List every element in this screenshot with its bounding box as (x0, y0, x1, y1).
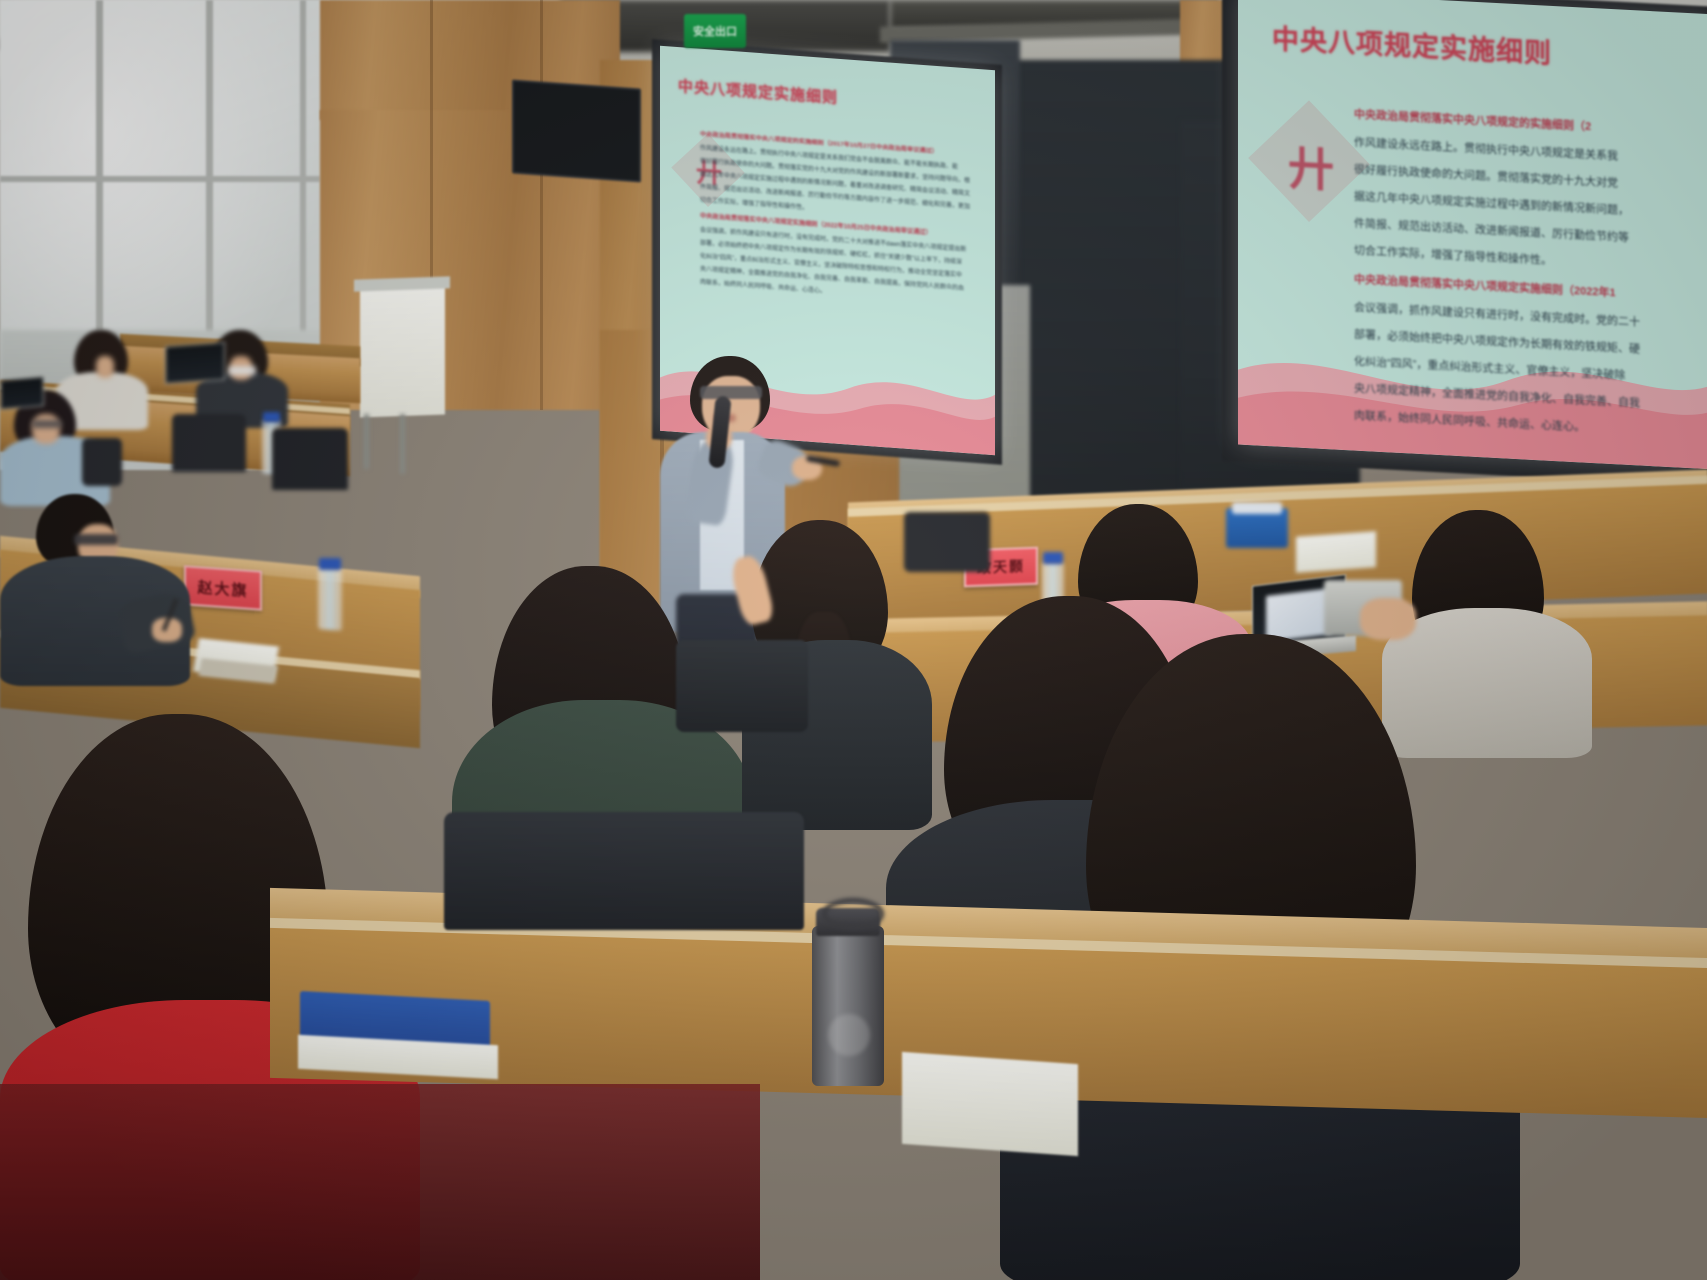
chair-back (676, 640, 808, 732)
name-placard-left: 赵大旗 (184, 565, 262, 610)
presenter-glasses (700, 386, 762, 399)
bottle-cap (1043, 552, 1063, 564)
emergency-exit-sign: 安全出口 (684, 14, 746, 48)
tissue-box (1226, 508, 1288, 548)
thermos-handle (822, 898, 884, 930)
whiteboard-flipchart (360, 285, 445, 418)
chair-back (904, 512, 990, 572)
water-bottle (318, 567, 342, 631)
party-emblem-mark: 廾 (1288, 132, 1334, 200)
chair-back (82, 438, 122, 486)
documents (1296, 531, 1376, 573)
attendee-face (96, 356, 114, 378)
notepad (902, 1052, 1078, 1156)
thermos-logo (828, 1014, 870, 1056)
bottle-cap (319, 558, 341, 570)
attendee-face-mask (228, 366, 256, 375)
wall-seam (540, 0, 543, 410)
right-slide-title: 中央八项规定实施细则 (1272, 17, 1552, 71)
flipchart-leg (400, 414, 405, 474)
flipchart-leg (364, 414, 369, 469)
left-slide-title: 中央八项规定实施细则 (678, 75, 838, 108)
attendee-hand (1360, 598, 1416, 640)
exit-sign-label: 安全出口 (693, 23, 737, 39)
window-mullion (300, 0, 306, 380)
bottle-cap (263, 412, 280, 422)
thermos-flask (812, 926, 884, 1086)
attendee-glasses (32, 420, 62, 428)
laptop-screen-content (1266, 588, 1332, 642)
window-transom (0, 176, 320, 182)
name-placard-left-text: 赵大旗 (197, 576, 248, 601)
lecture-hall-photo: 廾 中央八项规定实施细则 中央政治局贯彻落实中央八项规定的实施细则（2017年1… (0, 0, 1707, 1280)
wall-monitor (512, 79, 641, 182)
laptop (0, 376, 44, 410)
foreground-shadow (0, 1084, 760, 1280)
chair-back (272, 428, 348, 490)
tissue-box-top (1232, 502, 1282, 514)
chair-back (444, 812, 804, 930)
attendee-face (32, 414, 60, 444)
laptop (165, 342, 225, 384)
right-projection-screen: 廾 中央八项规定实施细则 中央政治局贯彻落实中央八项规定的实施细则（2 作风建设… (1238, 0, 1707, 470)
attendee-glasses (74, 534, 118, 545)
chair-back (172, 414, 246, 472)
